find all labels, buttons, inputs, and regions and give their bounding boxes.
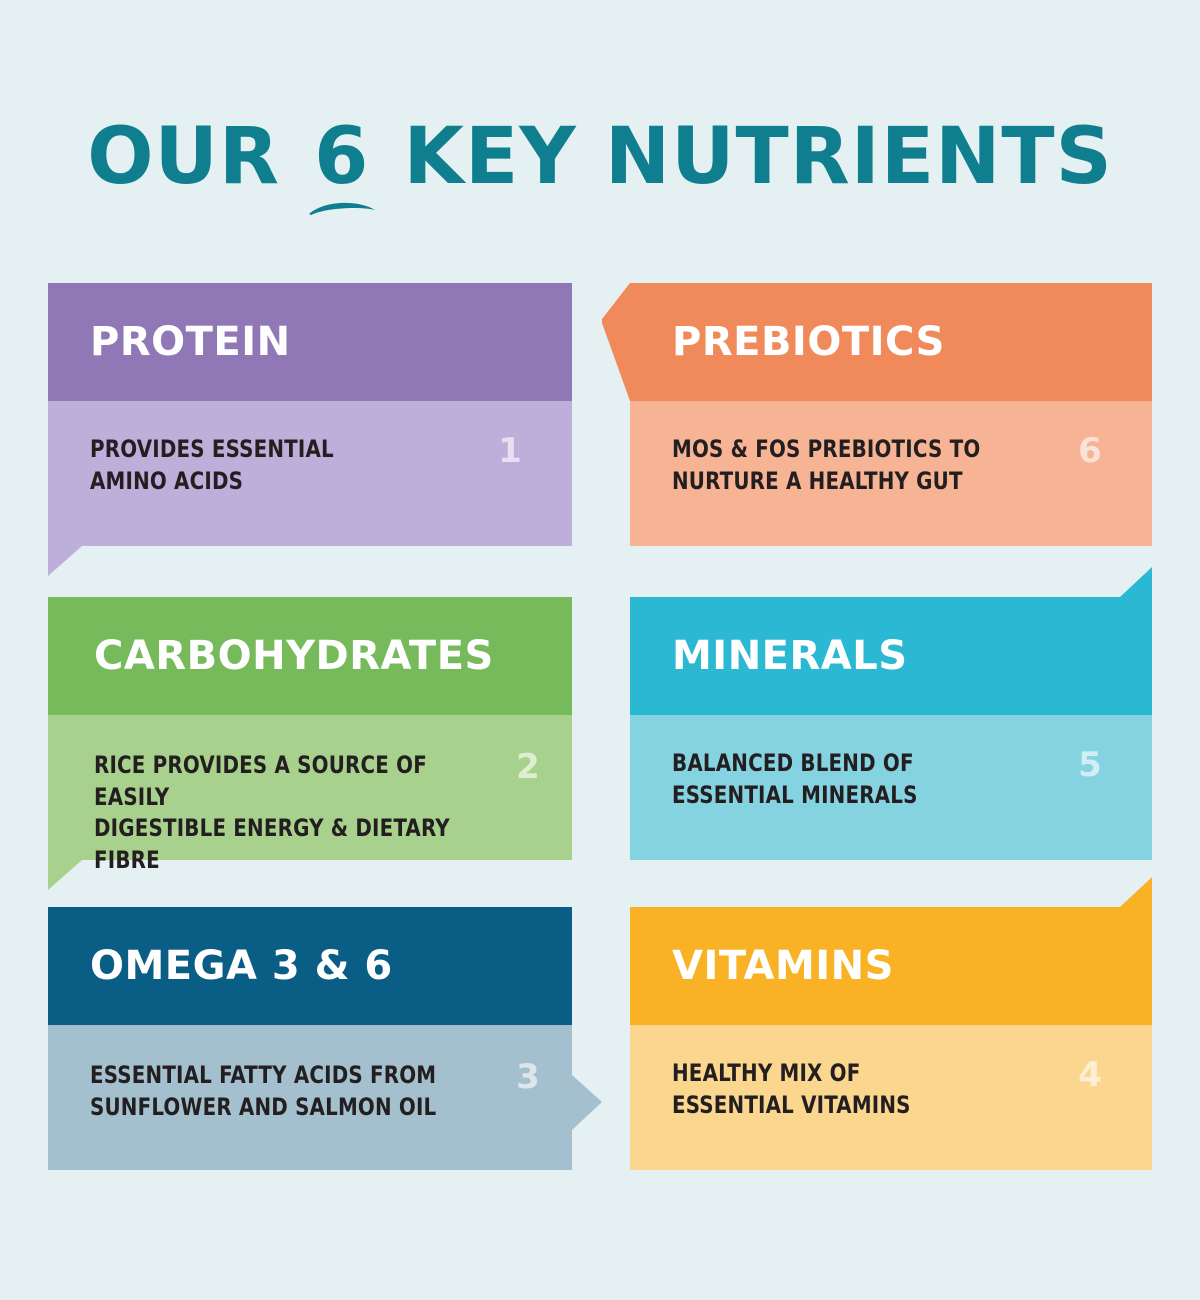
callout-tail-down-icon	[48, 860, 116, 890]
page-title-text: OUR 6 KEY NUTRIENTS	[87, 118, 1113, 196]
card-header-prebiotics: PREBIOTICS	[630, 283, 1152, 401]
card-header-carbohydrates: CARBOHYDRATES	[48, 597, 572, 715]
nutrient-card-carbohydrates[interactable]: CARBOHYDRATES RICE PROVIDES A SOURCE OF …	[48, 597, 572, 860]
card-title-carbohydrates: CARBOHYDRATES	[94, 636, 494, 676]
card-header-omega: OMEGA 3 & 6	[48, 907, 572, 1025]
card-description-minerals: BALANCED BLEND OF ESSENTIAL MINERALS	[672, 748, 918, 811]
card-body-omega: ESSENTIAL FATTY ACIDS FROM SUNFLOWER AND…	[48, 1025, 572, 1170]
card-header-minerals: MINERALS	[630, 597, 1152, 715]
page-title-suffix: KEY NUTRIENTS	[375, 112, 1112, 202]
card-title-vitamins: VITAMINS	[672, 946, 894, 986]
card-number-prebiotics: 6	[1070, 434, 1110, 468]
page-title-prefix: OUR	[87, 112, 308, 202]
card-number-vitamins: 4	[1070, 1058, 1110, 1092]
card-body-carbohydrates: RICE PROVIDES A SOURCE OF EASILY DIGESTI…	[48, 715, 572, 860]
card-body-vitamins: HEALTHY MIX OF ESSENTIAL VITAMINS 4	[630, 1025, 1152, 1170]
card-description-protein: PROVIDES ESSENTIAL AMINO ACIDS	[90, 434, 334, 497]
card-number-omega: 3	[508, 1060, 548, 1094]
card-description-vitamins: HEALTHY MIX OF ESSENTIAL VITAMINS	[672, 1058, 911, 1121]
nutrient-card-prebiotics[interactable]: PREBIOTICS MOS & FOS PREBIOTICS TO NURTU…	[630, 283, 1152, 546]
card-body-protein: PROVIDES ESSENTIAL AMINO ACIDS 1	[48, 401, 572, 546]
callout-arrow-left-icon	[602, 283, 630, 401]
card-number-minerals: 5	[1070, 748, 1110, 782]
callout-tail-up-icon	[1088, 877, 1152, 907]
infographic-page: OUR 6 KEY NUTRIENTS PROTEIN PROVIDES ESS…	[0, 0, 1200, 1300]
card-title-omega: OMEGA 3 & 6	[90, 946, 393, 986]
card-title-protein: PROTEIN	[90, 322, 291, 362]
card-header-vitamins: VITAMINS	[630, 907, 1152, 1025]
card-header-protein: PROTEIN	[48, 283, 572, 401]
card-description-prebiotics: MOS & FOS PREBIOTICS TO NURTURE A HEALTH…	[672, 434, 980, 497]
page-title-number-wrap: 6	[308, 118, 375, 196]
nutrient-card-vitamins[interactable]: VITAMINS HEALTHY MIX OF ESSENTIAL VITAMI…	[630, 907, 1152, 1170]
callout-tail-up-icon	[1088, 567, 1152, 597]
nutrient-card-protein[interactable]: PROTEIN PROVIDES ESSENTIAL AMINO ACIDS 1	[48, 283, 572, 546]
card-number-protein: 1	[490, 434, 530, 468]
callout-tail-down-icon	[48, 546, 116, 576]
callout-arrow-right-icon	[572, 1075, 602, 1130]
page-title: OUR 6 KEY NUTRIENTS	[0, 118, 1200, 196]
page-title-number: 6	[314, 112, 369, 202]
nutrient-card-minerals[interactable]: MINERALS BALANCED BLEND OF ESSENTIAL MIN…	[630, 597, 1152, 860]
card-title-minerals: MINERALS	[672, 636, 908, 676]
card-number-carbohydrates: 2	[508, 750, 548, 784]
card-body-minerals: BALANCED BLEND OF ESSENTIAL MINERALS 5	[630, 715, 1152, 860]
card-body-prebiotics: MOS & FOS PREBIOTICS TO NURTURE A HEALTH…	[630, 401, 1152, 546]
card-description-carbohydrates: RICE PROVIDES A SOURCE OF EASILY DIGESTI…	[94, 750, 475, 877]
card-description-omega: ESSENTIAL FATTY ACIDS FROM SUNFLOWER AND…	[90, 1060, 436, 1123]
card-title-prebiotics: PREBIOTICS	[672, 322, 945, 362]
nutrient-card-omega[interactable]: OMEGA 3 & 6 ESSENTIAL FATTY ACIDS FROM S…	[48, 907, 572, 1170]
